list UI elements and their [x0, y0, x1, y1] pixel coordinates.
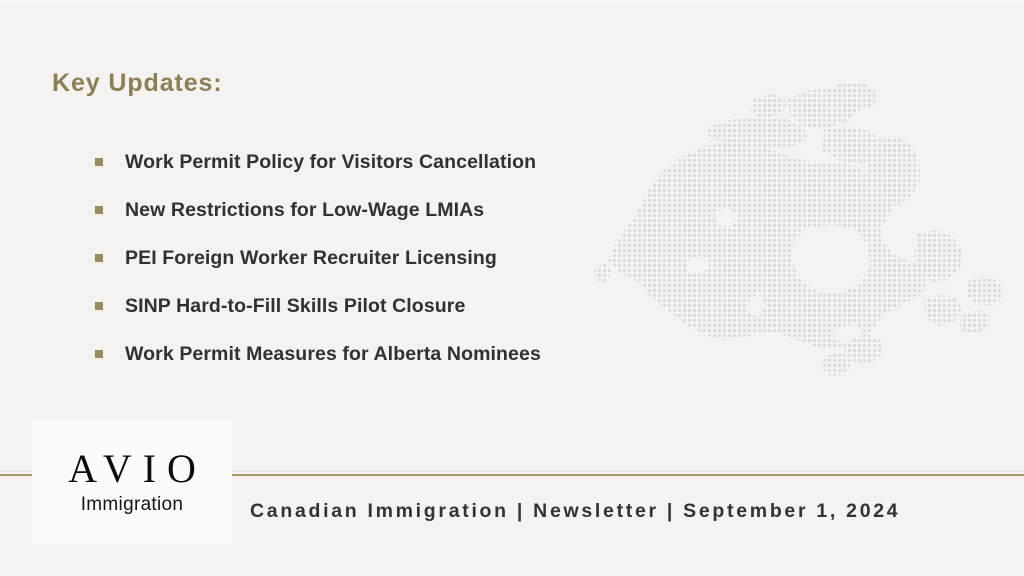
- list-item-label: Work Permit Measures for Alberta Nominee…: [125, 343, 541, 366]
- top-edge-sheen: [0, 0, 1024, 7]
- square-bullet-icon: [95, 206, 103, 214]
- list-item-label: New Restrictions for Low-Wage LMIAs: [125, 199, 484, 222]
- list-item-label: Work Permit Policy for Visitors Cancella…: [125, 151, 536, 174]
- square-bullet-icon: [95, 302, 103, 310]
- newsletter-slide: Key Updates: Work Permit Policy for Visi…: [0, 0, 1024, 576]
- list-item: PEI Foreign Worker Recruiter Licensing: [95, 234, 655, 282]
- avio-logo: AVIO Immigration: [32, 420, 232, 543]
- square-bullet-icon: [95, 350, 103, 358]
- page-title: Key Updates:: [52, 69, 223, 98]
- list-item: SINP Hard-to-Fill Skills Pilot Closure: [95, 282, 655, 330]
- square-bullet-icon: [95, 158, 103, 166]
- list-item-label: SINP Hard-to-Fill Skills Pilot Closure: [125, 295, 465, 318]
- square-bullet-icon: [95, 254, 103, 262]
- logo-tagline: Immigration: [81, 495, 184, 514]
- key-updates-list: Work Permit Policy for Visitors Cancella…: [95, 138, 655, 378]
- list-item-label: PEI Foreign Worker Recruiter Licensing: [125, 247, 497, 270]
- list-item: New Restrictions for Low-Wage LMIAs: [95, 186, 655, 234]
- logo-wordmark: AVIO: [57, 449, 207, 489]
- list-item: Work Permit Policy for Visitors Cancella…: [95, 138, 655, 186]
- footer-caption: Canadian Immigration | Newsletter | Sept…: [250, 500, 900, 523]
- list-item: Work Permit Measures for Alberta Nominee…: [95, 330, 655, 378]
